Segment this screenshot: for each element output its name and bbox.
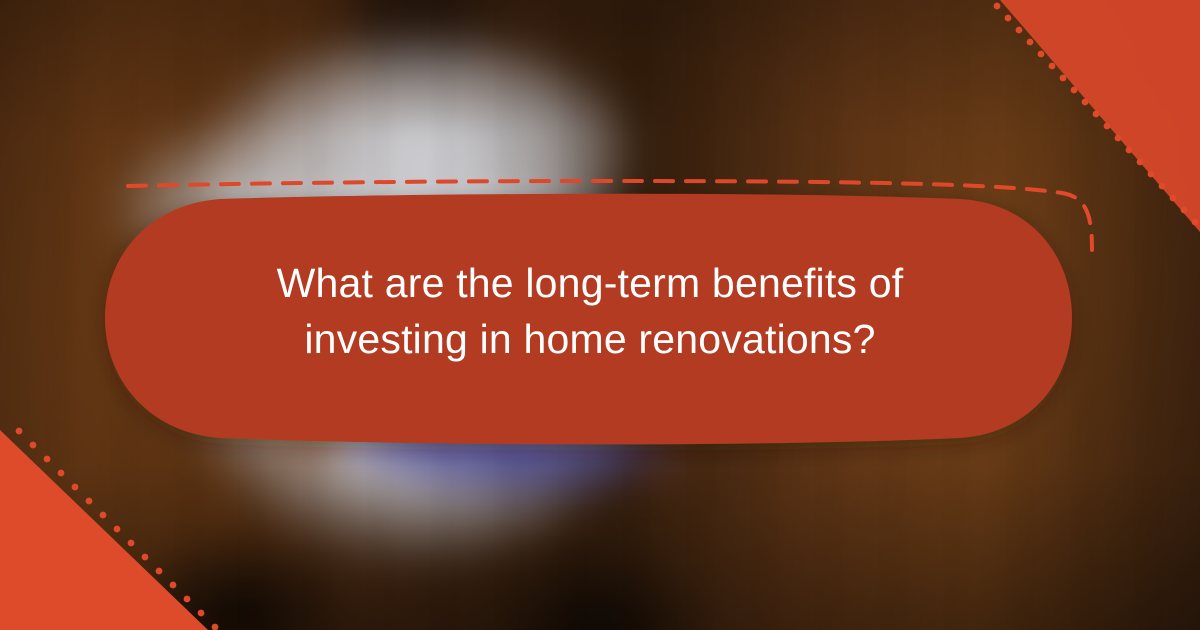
card-text-layer: What are the long-term benefits of inves… [0, 0, 1200, 630]
question-line-2: investing in home renovations? [140, 311, 1040, 367]
question-line-1: What are the long-term benefits of [140, 255, 1040, 311]
share-card-canvas: What are the long-term benefits of inves… [0, 0, 1200, 630]
question-text: What are the long-term benefits of inves… [140, 255, 1040, 367]
